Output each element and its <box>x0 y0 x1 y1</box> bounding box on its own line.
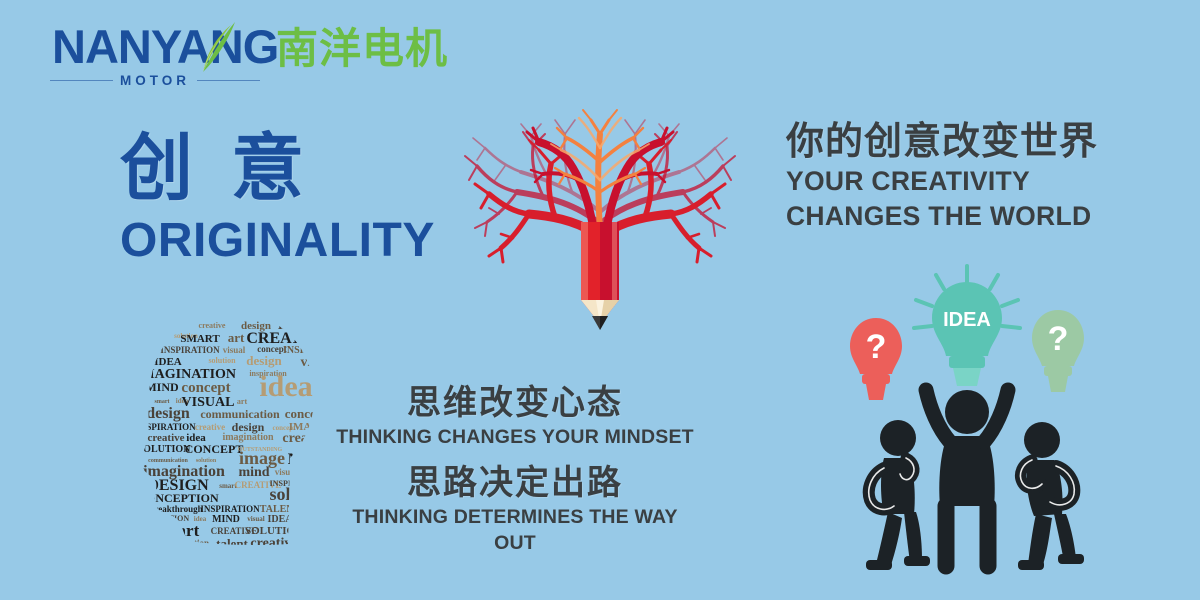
svg-text:CONCEPT: CONCEPT <box>299 517 328 523</box>
svg-text:visual: visual <box>300 355 335 370</box>
wayout-english: THINKING DETERMINES THE WAY OUT <box>330 504 700 556</box>
svg-text:design: design <box>146 405 190 422</box>
svg-text:art: art <box>228 330 245 345</box>
svg-text:mind: mind <box>238 465 269 480</box>
svg-text:creative: creative <box>147 432 184 444</box>
right-headline-english-1: YOUR CREATIVITY <box>786 164 1186 199</box>
idea-bulb-teal: IDEA <box>914 266 1020 386</box>
svg-text:i: i <box>331 455 334 464</box>
svg-text:CONCEPT: CONCEPT <box>185 442 244 456</box>
left-headline: 创意 ORIGINALITY <box>120 128 460 269</box>
wayout-chinese: 思路决定出路 <box>330 462 700 504</box>
svg-text:?: ? <box>866 328 887 366</box>
svg-text:visual: visual <box>223 345 246 355</box>
svg-text:concept: concept <box>285 406 328 421</box>
celebrating-figure <box>926 390 1008 566</box>
thinking-figure-right <box>1018 422 1084 570</box>
svg-text:idea: idea <box>259 370 312 403</box>
logo-subtitle: MOTOR <box>120 73 190 88</box>
banner-root: NANYANG 南洋电机 MOTOR 创意 ORIGINALITY 你的创意改变… <box>0 0 1200 600</box>
right-headline: 你的创意改变世界 YOUR CREATIVITY CHANGES THE WOR… <box>786 118 1186 234</box>
svg-text:imagination: imagination <box>163 538 209 548</box>
svg-text:concept: concept <box>181 380 230 396</box>
svg-text:?: ? <box>1048 320 1069 358</box>
people-idea-icon: ? IDEA ? <box>836 262 1098 582</box>
svg-text:MIND: MIND <box>145 380 179 394</box>
svg-text:design: design <box>301 507 323 516</box>
logo-rule-right <box>197 80 260 81</box>
svg-text:art: art <box>237 397 248 406</box>
svg-text:IMAGE: IMAGE <box>293 522 338 537</box>
logo-chinese: 南洋电机 <box>276 26 448 72</box>
question-bulb-red: ? <box>850 318 902 400</box>
svg-text:creative: creative <box>195 422 225 432</box>
svg-text:SMART: SMART <box>180 333 220 345</box>
left-headline-english: ORIGINALITY <box>120 213 460 269</box>
svg-text:SOLUTION: SOLUTION <box>138 444 191 455</box>
right-headline-chinese: 你的创意改变世界 <box>786 118 1186 164</box>
svg-text:creative: creative <box>282 431 329 446</box>
svg-text:INSPIRATION: INSPIRATION <box>138 422 196 432</box>
svg-text:solution: solution <box>208 356 236 365</box>
right-headline-english-2: CHANGES THE WORLD <box>786 199 1186 234</box>
svg-text:idea: idea <box>325 423 338 432</box>
svg-text:SMART: SMART <box>315 481 336 487</box>
pencil-tree-icon <box>455 62 745 352</box>
mindset-chinese: 思维改变心态 <box>330 382 700 424</box>
svg-text:visual: visual <box>247 515 265 523</box>
left-headline-chinese: 创意 <box>120 128 460 210</box>
svg-text:art: art <box>324 501 338 515</box>
svg-text:art: art <box>330 470 338 476</box>
svg-text:communication: communication <box>200 407 280 421</box>
svg-text:idea: idea <box>321 335 335 344</box>
logo-rule-left <box>50 80 113 81</box>
svg-text:creative: creative <box>199 321 226 330</box>
middle-text-block: 思维改变心态 THINKING CHANGES YOUR MINDSET 思路决… <box>330 382 700 556</box>
svg-text:CONCEPTION: CONCEPTION <box>138 491 219 505</box>
svg-text:form: form <box>316 323 333 332</box>
svg-text:INSPIRATION: INSPIRATION <box>160 345 220 355</box>
svg-text:breakthrough: breakthrough <box>149 504 202 514</box>
svg-text:visual: visual <box>275 467 298 477</box>
svg-text:smart: smart <box>309 538 332 548</box>
thinking-figure-left <box>866 420 930 570</box>
svg-text:creative: creative <box>250 536 297 548</box>
svg-text:IDEA: IDEA <box>267 514 293 525</box>
word-cloud-head-icon: creative design IDEA form solution SMART… <box>138 308 338 548</box>
svg-text:MIND: MIND <box>288 451 332 468</box>
svg-text:MIND: MIND <box>212 514 240 525</box>
svg-text:IDEA: IDEA <box>943 309 991 331</box>
company-logo: NANYANG 南洋电机 MOTOR <box>44 24 464 84</box>
svg-text:design: design <box>246 353 282 368</box>
logo-subtitle-row: MOTOR <box>50 72 260 88</box>
svg-text:solution: solution <box>269 484 330 504</box>
svg-text:DESIGN: DESIGN <box>297 465 338 477</box>
svg-text:INSPIRATION: INSPIRATION <box>283 345 338 356</box>
question-bulb-green: ? <box>1032 310 1084 392</box>
svg-text:INSPIRATION: INSPIRATION <box>200 504 260 514</box>
mindset-english: THINKING CHANGES YOUR MINDSET <box>330 424 700 450</box>
svg-text:talent: talent <box>216 536 248 548</box>
